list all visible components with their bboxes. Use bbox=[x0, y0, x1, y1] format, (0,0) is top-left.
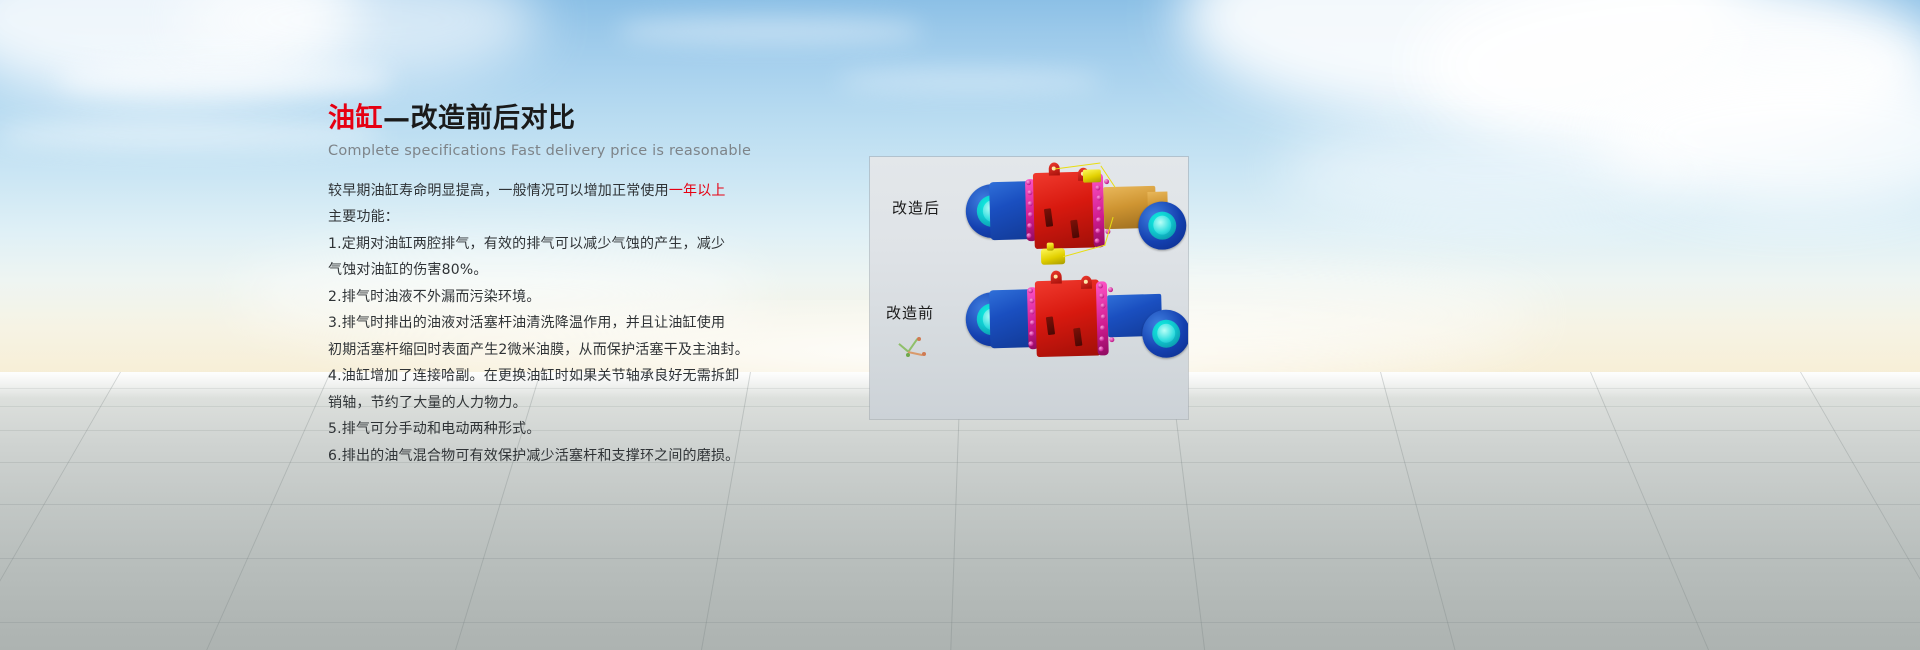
pavement-line bbox=[0, 372, 121, 650]
feature-line: 2.排气时油液不外漏而污染环境。 bbox=[328, 285, 848, 311]
feature-line-text: 销轴，节约了大量的人力物力。 bbox=[328, 395, 527, 411]
cloud-shape bbox=[1280, 120, 1700, 220]
feature-line: 6.排出的油气混合物可有效保护减少活塞杆和支撑环之间的磨损。 bbox=[328, 444, 848, 470]
pavement-line bbox=[0, 430, 1920, 431]
page-subtitle: Complete specifications Fast delivery pr… bbox=[328, 143, 848, 159]
feature-line: 1.定期对油缸两腔排气，有效的排气可以减少气蚀的产生，减少 bbox=[328, 232, 848, 258]
feature-line: 3.排气时排出的油液对活塞杆油清洗降温作用，并且让油缸使用 bbox=[328, 311, 848, 337]
feature-line-text: 气蚀对油缸的伤害80%。 bbox=[328, 262, 488, 278]
text-content: 油缸—改造前后对比 Complete specifications Fast d… bbox=[328, 104, 848, 470]
product-comparison-image: 改造后 改造前 bbox=[870, 157, 1188, 419]
feature-line: 气蚀对油缸的伤害80%。 bbox=[328, 258, 848, 284]
feature-line-text: 6.排出的油气混合物可有效保护减少活塞杆和支撑环之间的磨损。 bbox=[328, 448, 739, 464]
title-highlight: 油缸 bbox=[328, 103, 383, 134]
red-cylinder-body bbox=[1035, 279, 1101, 357]
feature-line-text: 5.排气可分手动和电动两种形式。 bbox=[328, 421, 541, 437]
feature-line-text: 3.排气时排出的油液对活塞杆油清洗降温作用，并且让油缸使用 bbox=[328, 315, 725, 331]
feature-list: 较早期油缸寿命明显提高，一般情况可以增加正常使用一年以上主要功能：1.定期对油缸… bbox=[328, 179, 848, 470]
pavement-line bbox=[0, 558, 1920, 559]
pavement-line bbox=[0, 622, 1920, 623]
feature-line: 主要功能： bbox=[328, 205, 848, 231]
feature-line-text: 1.定期对油缸两腔排气，有效的排气可以减少气蚀的产生，减少 bbox=[328, 236, 725, 252]
cylinder-assembly-before bbox=[895, 271, 1188, 383]
feature-line-highlight: 一年以上 bbox=[669, 183, 726, 199]
cloud-shape bbox=[840, 70, 1100, 92]
feature-line-text: 主要功能： bbox=[328, 209, 399, 225]
pavement-line bbox=[0, 462, 1920, 463]
pavement-line bbox=[0, 504, 1920, 505]
feature-line: 4.油缸增加了连接哈副。在更换油缸时如果关节轴承良好无需拆卸 bbox=[328, 364, 848, 390]
feature-line: 初期活塞杆缩回时表面产生2微米油膜，从而保护活塞干及主油封。 bbox=[328, 338, 848, 364]
blue-barrel bbox=[989, 289, 1033, 348]
feature-line-text: 较早期油缸寿命明显提高，一般情况可以增加正常使用 bbox=[328, 183, 669, 199]
feature-line-text: 2.排气时油液不外漏而污染环境。 bbox=[328, 289, 541, 305]
cloud-shape bbox=[0, 120, 380, 150]
pavement-line bbox=[1800, 372, 1920, 650]
title-rest: —改造前后对比 bbox=[383, 103, 576, 134]
feature-line-text: 初期活塞杆缩回时表面产生2微米油膜，从而保护活塞干及主油封。 bbox=[328, 342, 749, 358]
cylinder-assembly-after bbox=[889, 161, 1182, 273]
pavement-line bbox=[1590, 372, 1709, 650]
rod-eye bbox=[1142, 309, 1188, 358]
promo-banner: 油缸—改造前后对比 Complete specifications Fast d… bbox=[0, 0, 1920, 650]
page-title: 油缸—改造前后对比 bbox=[328, 104, 848, 134]
feature-line: 较早期油缸寿命明显提高，一般情况可以增加正常使用一年以上 bbox=[328, 179, 848, 205]
pavement-line bbox=[206, 372, 331, 650]
feature-line: 销轴，节约了大量的人力物力。 bbox=[328, 391, 848, 417]
vent-valve bbox=[1083, 169, 1101, 182]
cloud-shape bbox=[620, 18, 920, 44]
vent-valve-knob bbox=[1047, 243, 1054, 251]
feature-line-text: 4.油缸增加了连接哈副。在更换油缸时如果关节轴承良好无需拆卸 bbox=[328, 368, 739, 384]
red-cylinder-body bbox=[1033, 171, 1097, 249]
vent-valve bbox=[1041, 248, 1065, 265]
feature-line: 5.排气可分手动和电动两种形式。 bbox=[328, 417, 848, 443]
cloud-shape bbox=[60, 60, 390, 98]
rod-eye bbox=[1138, 201, 1187, 250]
pavement-line bbox=[1380, 372, 1455, 650]
